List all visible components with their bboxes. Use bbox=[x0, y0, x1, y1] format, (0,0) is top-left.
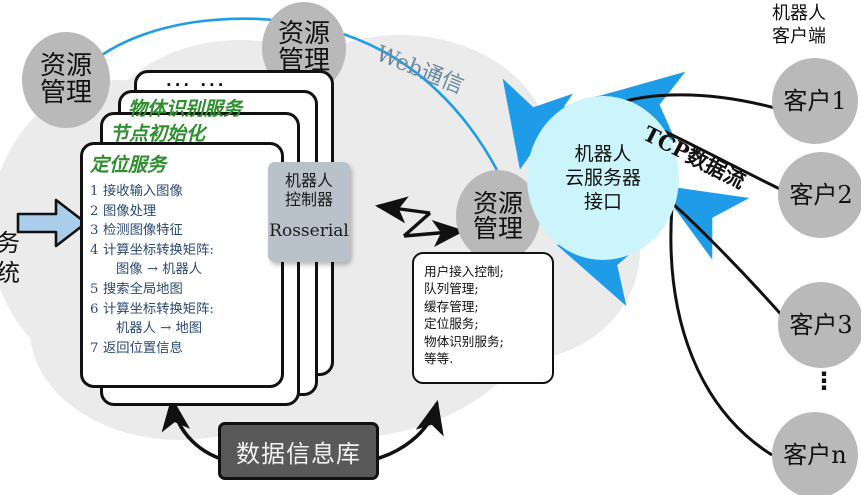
service-card-title-object-recognition: 物体识别服务 bbox=[128, 94, 242, 121]
database-box[interactable]: 数据信息库 bbox=[218, 422, 379, 480]
service-card-steps: 1接收输入图像 2图像处理 3检测图像特征 4计算坐标转换矩阵: 图像 → 机器… bbox=[90, 182, 214, 358]
robot-controller-box[interactable]: 机器人 控制器 Rosserial bbox=[268, 162, 350, 262]
step-text: 计算坐标转换矩阵: bbox=[103, 243, 214, 258]
clients-title-line2: 客户端 bbox=[772, 25, 826, 48]
step-number: 3 bbox=[90, 221, 103, 241]
step-row: 3检测图像特征 bbox=[90, 221, 214, 241]
client-3[interactable]: 客户3 bbox=[778, 282, 861, 368]
service-list-item: 定位服务; bbox=[424, 315, 552, 332]
service-list-item: 物体识别服务; bbox=[424, 333, 552, 350]
tcp-curve-clientn bbox=[671, 206, 772, 455]
step-row: 4计算坐标转换矩阵: bbox=[90, 241, 214, 261]
client-n[interactable]: 客户n bbox=[772, 412, 858, 495]
service-card-title-localization: 定位服务 bbox=[90, 150, 166, 177]
input-arrow bbox=[16, 196, 90, 252]
cloud-server-line2: 云服务器 bbox=[565, 166, 641, 190]
step-text: 计算坐标转换矩阵: bbox=[103, 302, 214, 317]
resource-manager-top-left: 资源 管理 bbox=[22, 32, 110, 128]
step-row: 图像 → 机器人 bbox=[90, 260, 214, 280]
step-row: 1接收输入图像 bbox=[90, 182, 214, 202]
client-label: 客户1 bbox=[783, 89, 846, 113]
clients-title-line1: 机器人 bbox=[772, 2, 826, 25]
step-text: 机器人 → 地图 bbox=[116, 321, 202, 336]
step-text: 返回位置信息 bbox=[103, 341, 183, 356]
rm-label-line2: 管理 bbox=[40, 80, 92, 107]
rm-label-line1: 资源 bbox=[473, 191, 523, 217]
service-list-box[interactable]: 用户接入控制; 队列管理; 缓存管理; 定位服务; 物体识别服务; 等等. bbox=[412, 252, 554, 384]
step-number: 5 bbox=[90, 280, 103, 300]
step-number: 7 bbox=[90, 339, 103, 359]
diagram-canvas: 务 统 资源 管理 资源 管理 资源 管理 Web通信 ··· ··· 物体识别… bbox=[0, 0, 861, 495]
step-text: 接收输入图像 bbox=[103, 184, 183, 199]
client-2[interactable]: 客户2 bbox=[778, 152, 861, 238]
step-number: 6 bbox=[90, 300, 103, 320]
left-edge-text-line2: 统 bbox=[0, 258, 20, 288]
client-label: 客户2 bbox=[789, 183, 852, 207]
client-label: 客户n bbox=[783, 443, 846, 467]
rm-label-line2: 管理 bbox=[473, 216, 523, 242]
service-list-item: 队列管理; bbox=[424, 280, 552, 297]
step-text: 检测图像特征 bbox=[103, 223, 183, 238]
cloud-server-line1: 机器人 bbox=[574, 142, 631, 166]
rm-label-line1: 资源 bbox=[278, 21, 330, 48]
controller-rm-arrow-left bbox=[378, 206, 430, 213]
service-list-item: 用户接入控制; bbox=[424, 263, 552, 280]
service-list-item: 缓存管理; bbox=[424, 298, 552, 315]
cloud-server-line3: 接口 bbox=[584, 190, 622, 214]
step-row: 5搜索全局地图 bbox=[90, 280, 214, 300]
step-number: 1 bbox=[90, 182, 103, 202]
service-list-item: 等等. bbox=[424, 350, 552, 367]
clients-title: 机器人 客户端 bbox=[772, 2, 826, 48]
rm-label-line1: 资源 bbox=[40, 53, 92, 80]
step-row: 6计算坐标转换矩阵: bbox=[90, 300, 214, 320]
step-text: 搜索全局地图 bbox=[103, 282, 183, 297]
robot-controller-line1: 机器人 bbox=[268, 171, 350, 190]
robot-controller-line2: 控制器 bbox=[268, 190, 350, 209]
step-text: 图像 → 机器人 bbox=[116, 262, 202, 277]
step-text: 图像处理 bbox=[103, 204, 156, 219]
tcp-curve-client3 bbox=[664, 196, 786, 320]
clients-ellipsis: ⋮ bbox=[812, 378, 832, 385]
step-row: 机器人 → 地图 bbox=[90, 319, 214, 339]
step-number: 4 bbox=[90, 241, 103, 261]
step-row: 2图像处理 bbox=[90, 202, 214, 222]
client-label: 客户3 bbox=[789, 313, 852, 337]
step-number: 2 bbox=[90, 202, 103, 222]
client-1[interactable]: 客户1 bbox=[772, 58, 858, 144]
service-card-title-node-init: 节点初始化 bbox=[110, 119, 205, 146]
service-card-dots: ··· ··· bbox=[166, 76, 226, 94]
step-row: 7返回位置信息 bbox=[90, 339, 214, 359]
controller-rm-arrow-right bbox=[404, 231, 462, 236]
robot-controller-protocol: Rosserial bbox=[268, 221, 350, 241]
